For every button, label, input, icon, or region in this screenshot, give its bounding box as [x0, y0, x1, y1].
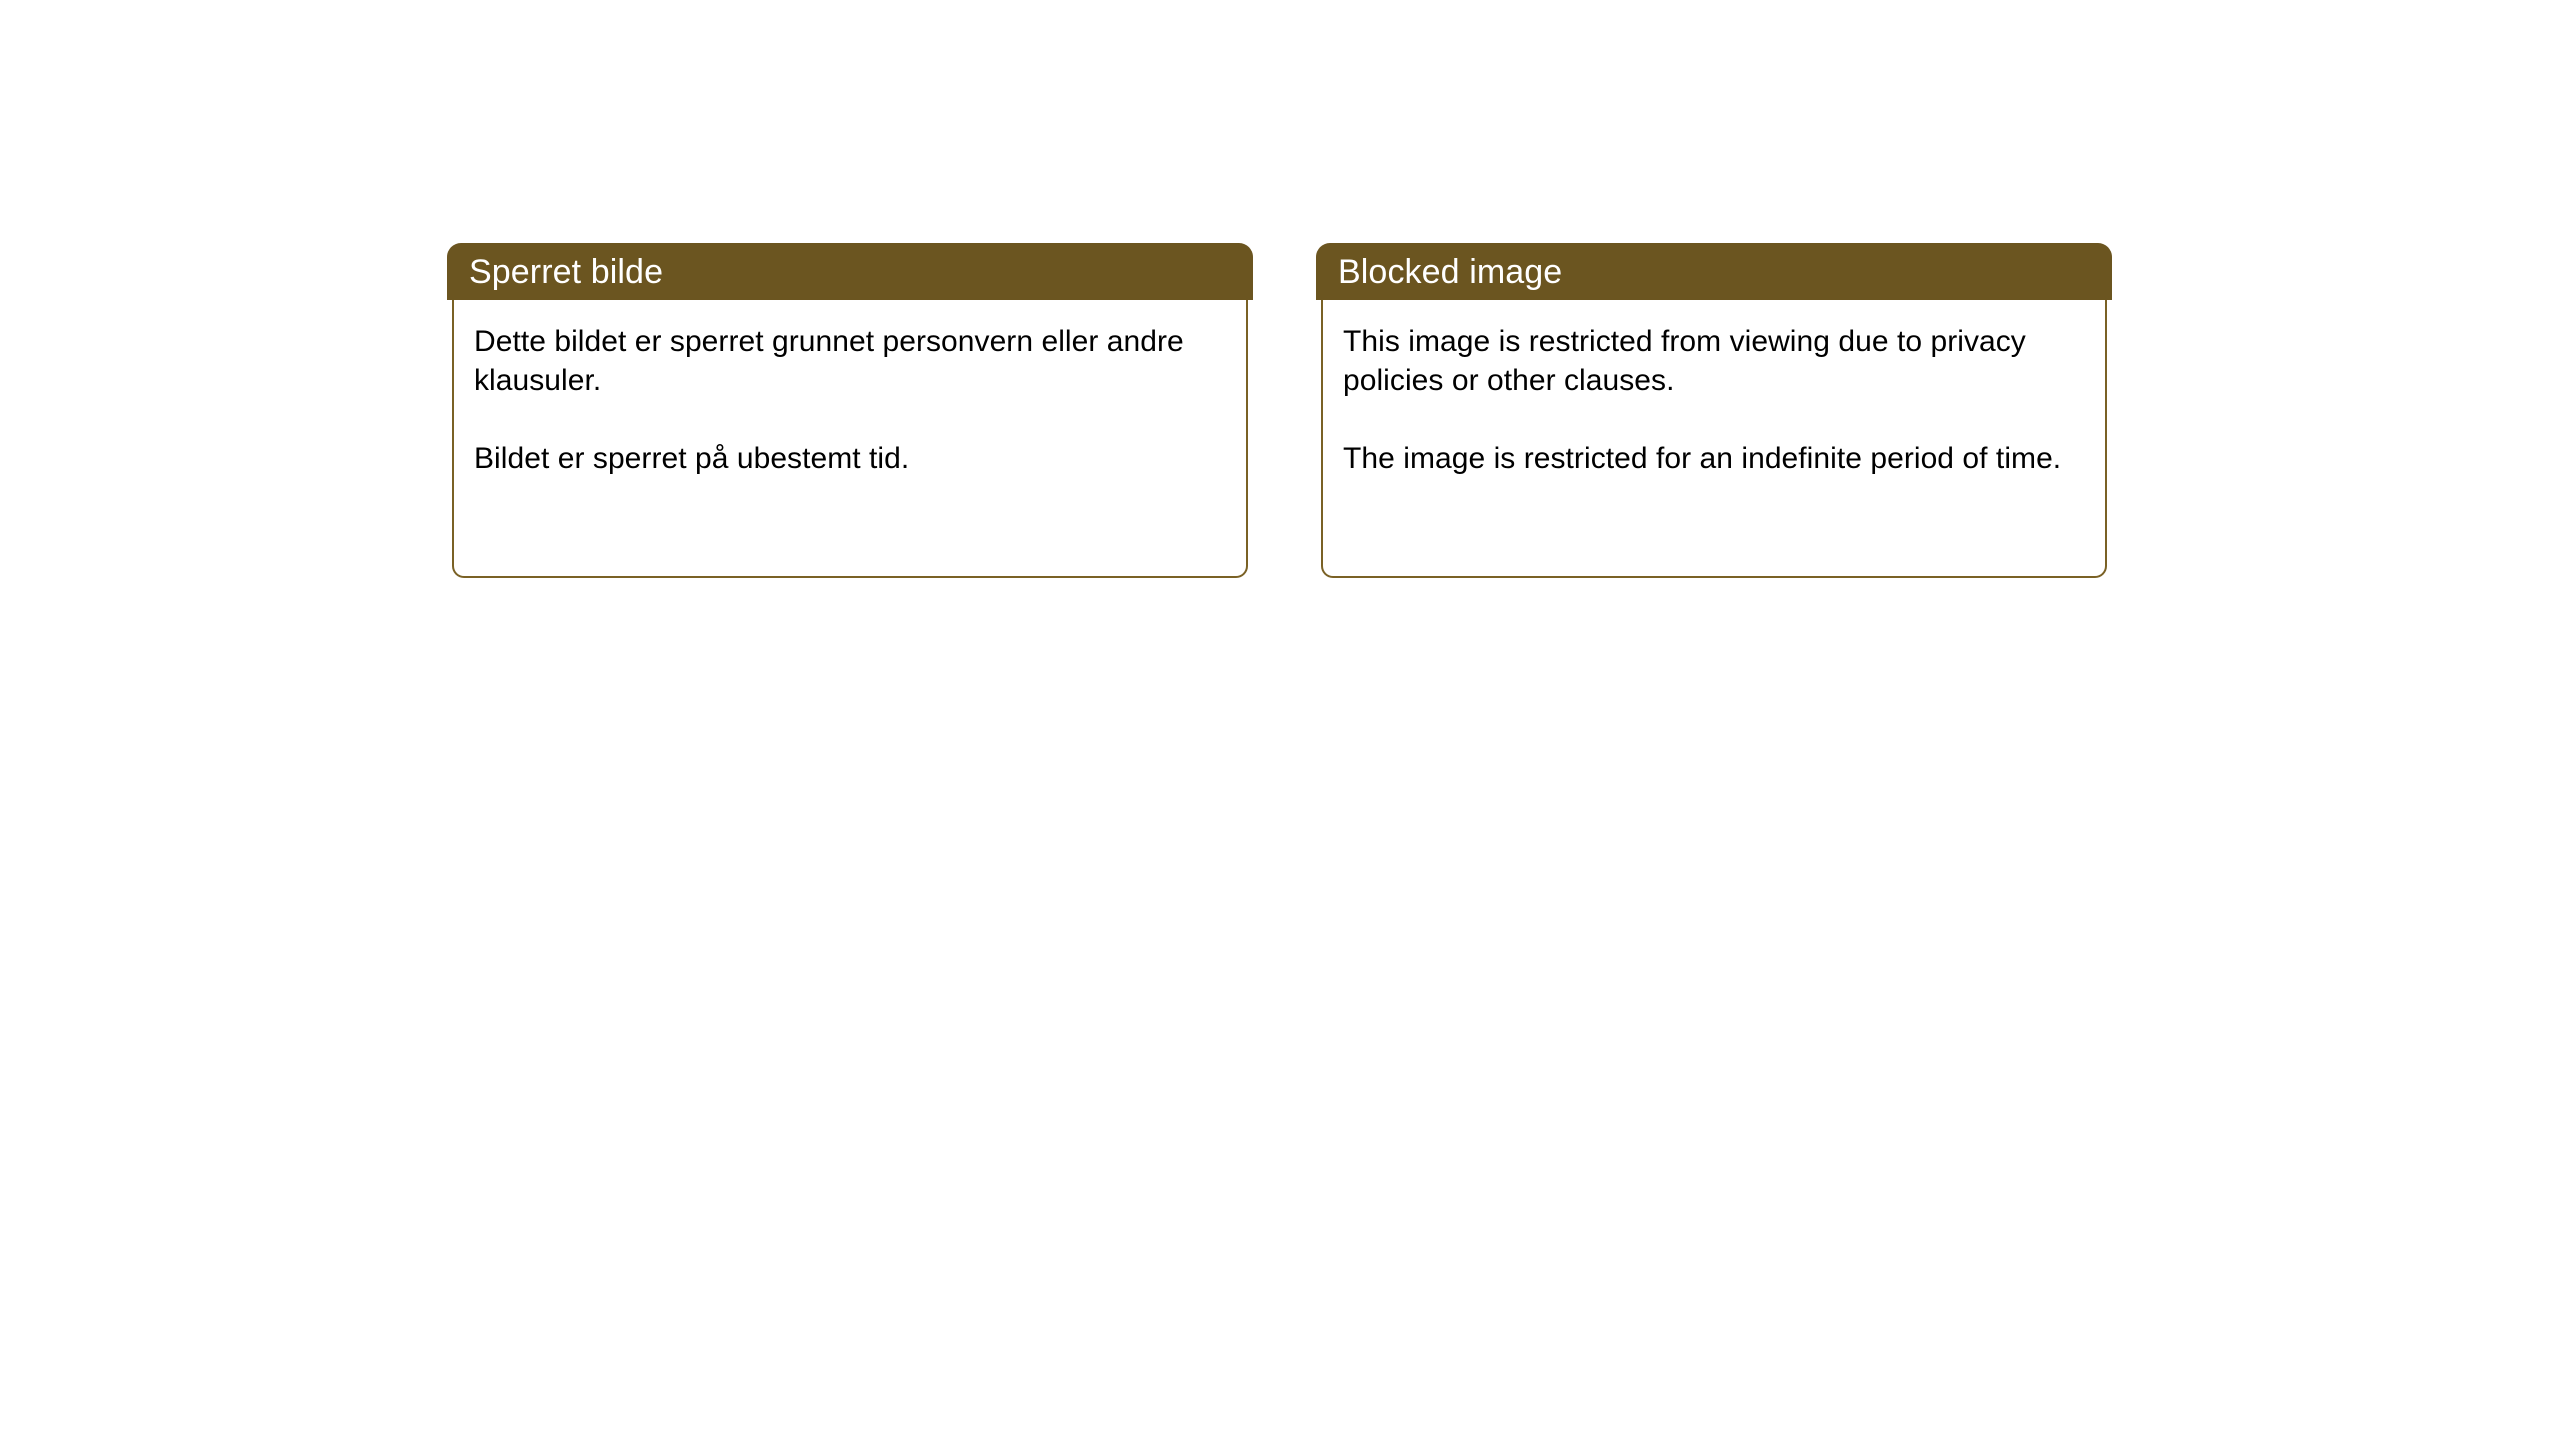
card-title-english: Blocked image [1338, 252, 1562, 292]
card-body-norwegian: Dette bildet er sperret grunnet personve… [452, 300, 1248, 578]
card-header-norwegian: Sperret bilde [447, 243, 1253, 300]
card-paragraph-reason-english: This image is restricted from viewing du… [1343, 322, 2083, 400]
card-title-norwegian: Sperret bilde [469, 252, 663, 292]
page-root: Sperret bilde Dette bildet er sperret gr… [0, 0, 2560, 1440]
card-header-english: Blocked image [1316, 243, 2112, 300]
card-body-english: This image is restricted from viewing du… [1321, 300, 2107, 578]
blocked-image-notice-card-norwegian: Sperret bilde Dette bildet er sperret gr… [447, 243, 1253, 578]
blocked-image-notice-card-english: Blocked image This image is restricted f… [1316, 243, 2112, 578]
card-paragraph-duration-english: The image is restricted for an indefinit… [1343, 439, 2083, 478]
card-paragraph-duration-norwegian: Bildet er sperret på ubestemt tid. [474, 439, 1224, 478]
card-paragraph-reason-norwegian: Dette bildet er sperret grunnet personve… [474, 322, 1224, 400]
